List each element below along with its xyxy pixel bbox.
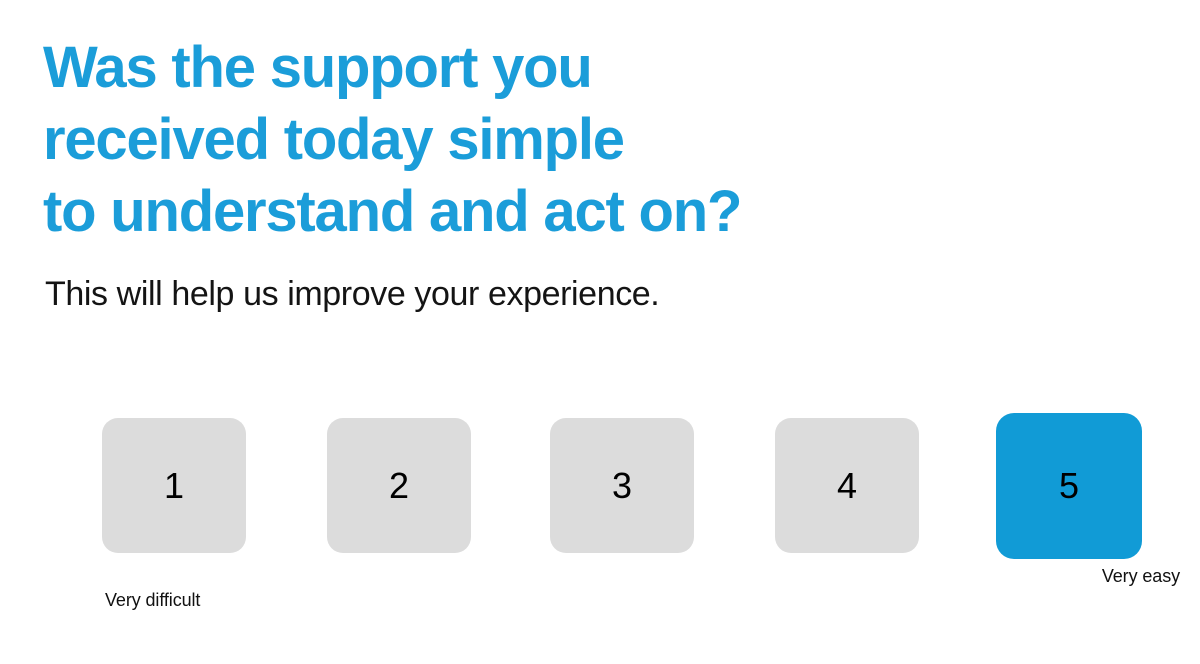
question-heading: Was the support you received today simpl… <box>43 32 1003 248</box>
scale-low-label: Very difficult <box>105 590 200 611</box>
question-subtitle: This will help us improve your experienc… <box>45 272 659 316</box>
rating-button-3[interactable]: 3 <box>550 418 694 553</box>
rating-button-4[interactable]: 4 <box>775 418 919 553</box>
rating-option-5[interactable]: 5 <box>1000 400 1146 630</box>
rating-scale: 1 2 3 4 5 Very difficult Very easy <box>0 400 1200 630</box>
rating-option-3[interactable]: 3 <box>550 400 696 630</box>
rating-button-2[interactable]: 2 <box>327 418 471 553</box>
rating-option-2[interactable]: 2 <box>327 400 473 630</box>
rating-option-4[interactable]: 4 <box>775 400 921 630</box>
rating-button-1[interactable]: 1 <box>102 418 246 553</box>
rating-button-5[interactable]: 5 <box>996 413 1142 559</box>
scale-high-label: Very easy <box>1102 566 1180 587</box>
survey-card: Was the support you received today simpl… <box>0 0 1200 664</box>
